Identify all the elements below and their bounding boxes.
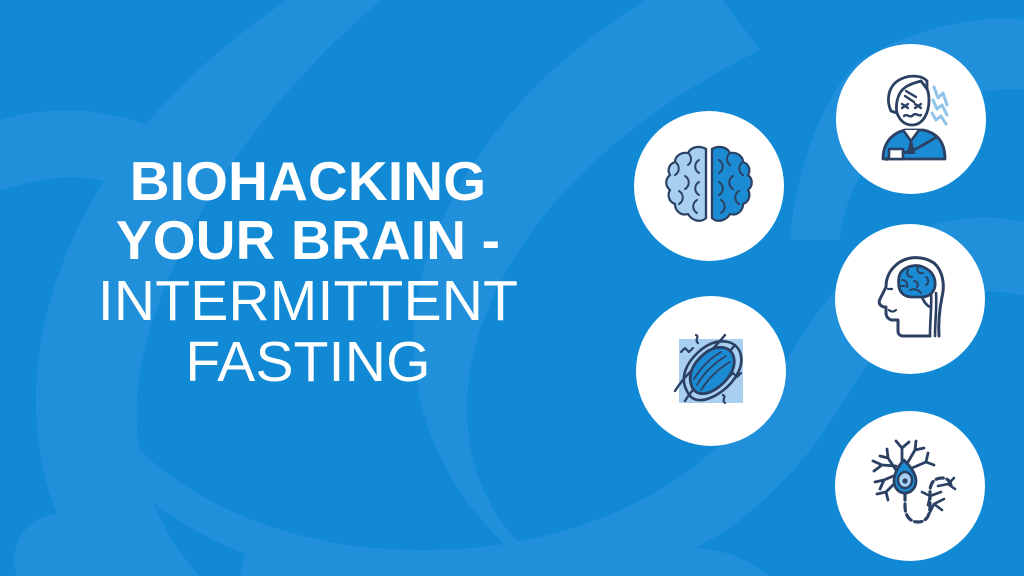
head-profile-brain-icon bbox=[858, 247, 962, 351]
icon-badge-muscle bbox=[636, 296, 786, 446]
headache-person-icon bbox=[859, 67, 963, 171]
title-line-1: BIOHACKING bbox=[48, 152, 568, 211]
neuron-icon bbox=[858, 434, 962, 538]
banner-root: BIOHACKING YOUR BRAIN - INTERMITTENT FAS… bbox=[0, 0, 1024, 576]
title-line-2: YOUR BRAIN - bbox=[48, 211, 568, 270]
icon-badge-head-brain bbox=[835, 224, 985, 374]
icon-badge-headache bbox=[836, 44, 986, 194]
title-line-3: INTERMITTENT bbox=[48, 271, 568, 333]
title-line-4: FASTING bbox=[48, 332, 568, 394]
page-title: BIOHACKING YOUR BRAIN - INTERMITTENT FAS… bbox=[48, 152, 568, 394]
muscle-fiber-icon bbox=[659, 319, 763, 423]
icon-badge-brain bbox=[634, 111, 784, 261]
brain-top-view-icon bbox=[659, 136, 759, 236]
icon-badge-neuron bbox=[835, 411, 985, 561]
